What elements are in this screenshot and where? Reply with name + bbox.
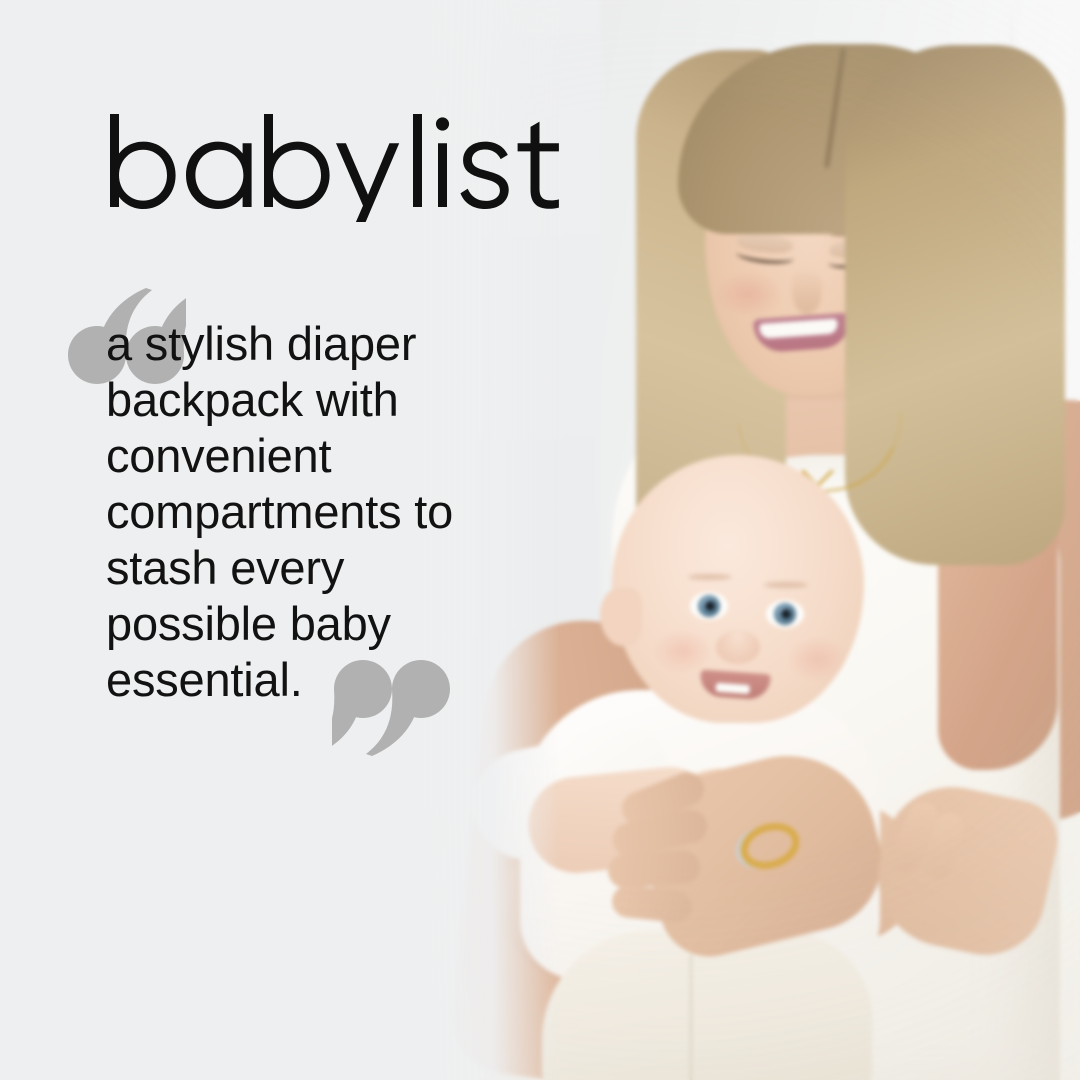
ad-content: a stylish diaper backpack with convenien… [0,0,1080,1080]
testimonial-quote: a stylish diaper backpack with convenien… [62,288,532,758]
close-quote-icon [332,660,450,756]
babylist-logo [104,112,564,222]
testimonial-text: a stylish diaper backpack with convenien… [106,316,536,708]
babylist-testimonial-ad: a stylish diaper backpack with convenien… [0,0,1080,1080]
